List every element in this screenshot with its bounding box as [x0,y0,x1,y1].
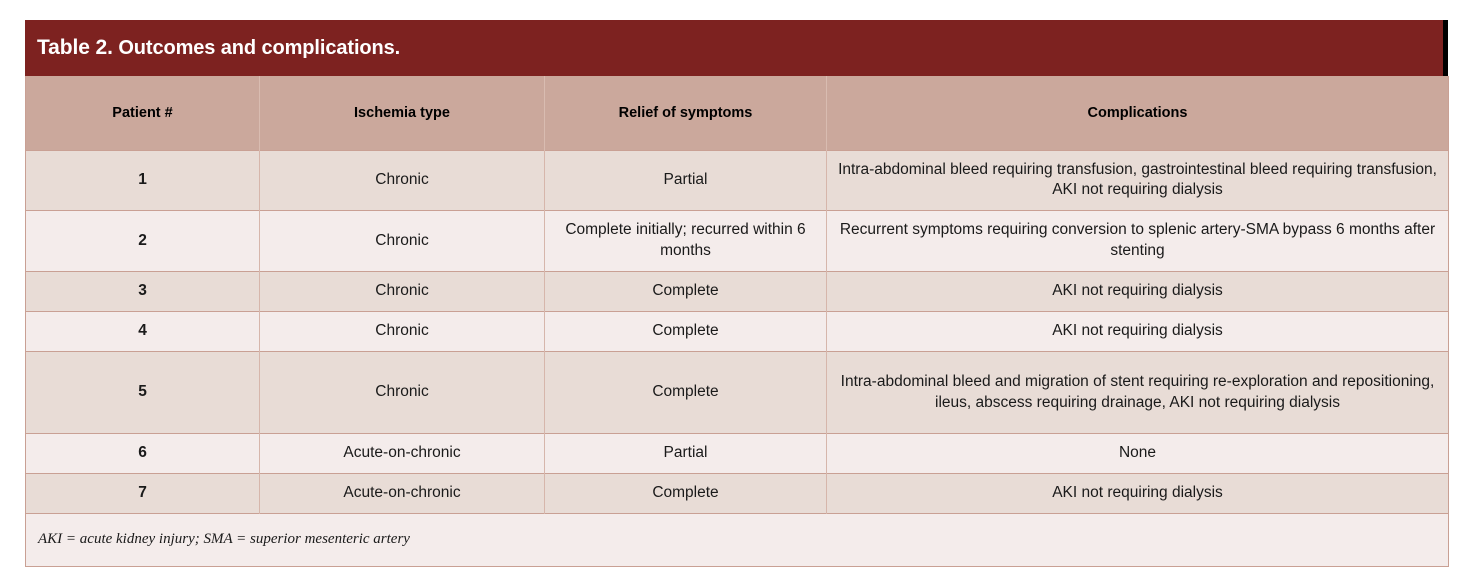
cell-ischemia-type: Chronic [260,312,545,352]
caption-bar-edge-marker [1443,20,1448,76]
cell-patient: 7 [26,473,260,513]
cell-ischemia-type: Chronic [260,211,545,272]
table-row: 4 Chronic Complete AKI not requiring dia… [26,312,1449,352]
cell-relief-of-symptoms: Complete [545,352,827,434]
cell-patient: 6 [26,434,260,474]
cell-complications: Intra-abdominal bleed and migration of s… [827,352,1449,434]
cell-relief-of-symptoms: Complete [545,312,827,352]
cell-relief-of-symptoms: Partial [545,434,827,474]
table-caption-label: Table 2. [37,36,113,59]
table-footnote-row: AKI = acute kidney injury; SMA = superio… [26,513,1449,566]
cell-relief-of-symptoms: Complete [545,272,827,312]
cell-patient: 5 [26,352,260,434]
cell-patient: 2 [26,211,260,272]
cell-ischemia-type: Chronic [260,352,545,434]
table-row: 2 Chronic Complete initially; recurred w… [26,211,1449,272]
cell-ischemia-type: Acute-on-chronic [260,473,545,513]
table-footnote: AKI = acute kidney injury; SMA = superio… [26,513,1449,566]
table-row: 3 Chronic Complete AKI not requiring dia… [26,272,1449,312]
table-caption-bar: Table 2. Outcomes and complications. [25,20,1448,76]
table-figure: Table 2. Outcomes and complications. Pat… [25,20,1448,547]
cell-complications: Intra-abdominal bleed requiring transfus… [827,150,1449,211]
column-header-ischemia-type: Ischemia type [260,76,545,150]
column-header-complications: Complications [827,76,1449,150]
cell-complications: None [827,434,1449,474]
cell-patient: 4 [26,312,260,352]
cell-complications: AKI not requiring dialysis [827,312,1449,352]
cell-ischemia-type: Acute-on-chronic [260,434,545,474]
cell-complications: Recurrent symptoms requiring conversion … [827,211,1449,272]
table-row: 1 Chronic Partial Intra-abdominal bleed … [26,150,1449,211]
cell-complications: AKI not requiring dialysis [827,473,1449,513]
table-row: 6 Acute-on-chronic Partial None [26,434,1449,474]
cell-relief-of-symptoms: Complete [545,473,827,513]
cell-ischemia-type: Chronic [260,150,545,211]
table-header: Patient # Ischemia type Relief of sympto… [26,76,1449,150]
table-caption-description-text: Outcomes and complications. [118,37,400,59]
column-header-relief-of-symptoms: Relief of symptoms [545,76,827,150]
column-header-patient: Patient # [26,76,260,150]
table-caption: Table 2. Outcomes and complications. [37,36,400,60]
cell-relief-of-symptoms: Complete initially; recurred within 6 mo… [545,211,827,272]
table-header-row: Patient # Ischemia type Relief of sympto… [26,76,1449,150]
outcomes-table: Patient # Ischemia type Relief of sympto… [25,76,1449,567]
table-row: 5 Chronic Complete Intra-abdominal bleed… [26,352,1449,434]
table-body: 1 Chronic Partial Intra-abdominal bleed … [26,150,1449,513]
table-row: 7 Acute-on-chronic Complete AKI not requ… [26,473,1449,513]
cell-patient: 1 [26,150,260,211]
cell-ischemia-type: Chronic [260,272,545,312]
cell-patient: 3 [26,272,260,312]
cell-relief-of-symptoms: Partial [545,150,827,211]
cell-complications: AKI not requiring dialysis [827,272,1449,312]
table-footer: AKI = acute kidney injury; SMA = superio… [26,513,1449,566]
